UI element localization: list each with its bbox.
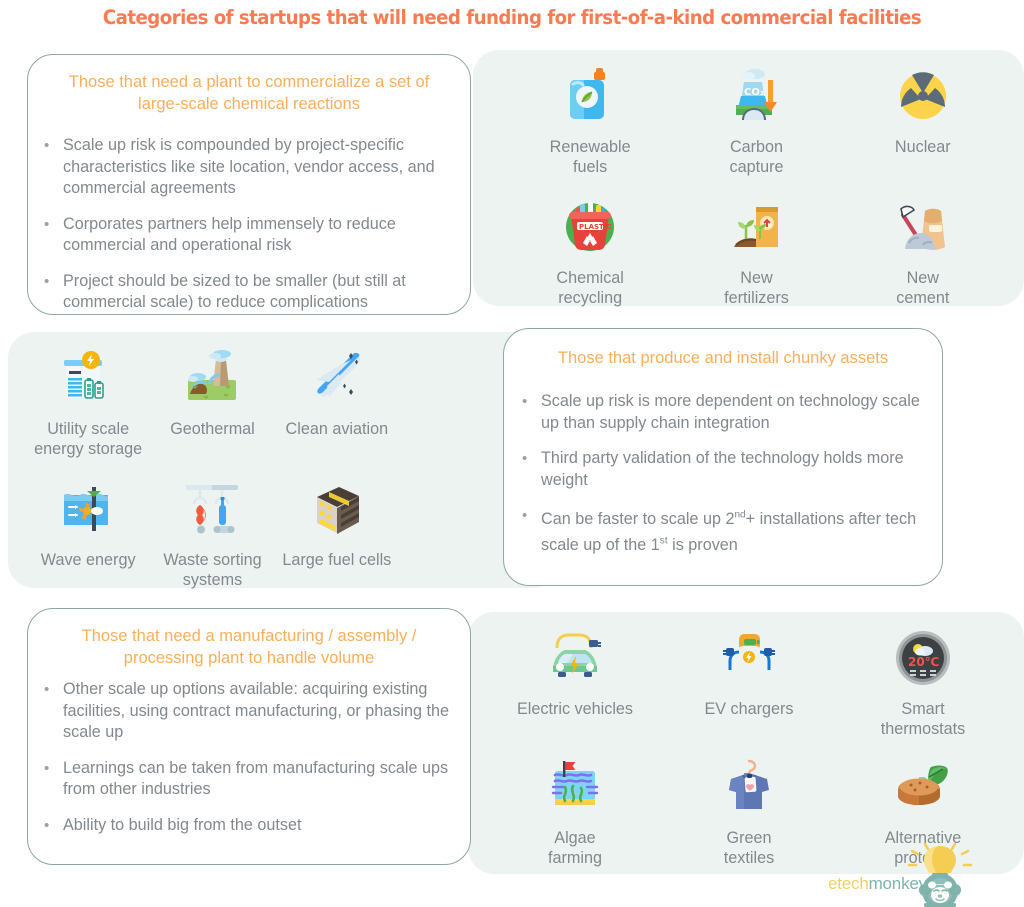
tshirt-hanger-icon (717, 755, 781, 819)
chemical-text-panel: Those that need a plant to commercialize… (27, 54, 471, 315)
icon-label: Green textiles (724, 828, 774, 868)
chemical-bullet-list: •Scale up risk is compounded by project-… (38, 135, 460, 314)
logo-wordmark: etechmonkey (828, 874, 927, 894)
list-item: •Other scale up options available: acqui… (38, 679, 456, 744)
icon-label: Renewable fuels (550, 137, 631, 177)
electric-car-icon (543, 626, 607, 690)
bullet-text: Corporates partners help immensely to re… (63, 215, 396, 255)
bullet-text: Project should be sized to be smaller (b… (63, 272, 406, 312)
bullet-dot: • (522, 505, 527, 527)
list-item: •Project should be sized to be smaller (… (38, 271, 456, 314)
thermostat-temp: 20℃ (908, 655, 939, 669)
radiation-icon (891, 64, 955, 128)
list-item: •Corporates partners help immensely to r… (38, 214, 456, 257)
icon-label: Carbon capture (729, 137, 783, 177)
bullet-text: Ability to build big from the outset (63, 816, 301, 834)
wave-turbine-icon (56, 477, 120, 541)
icon-label: Clean aviation (286, 419, 389, 439)
ev-charger-icon (717, 626, 781, 690)
bullet-dot: • (522, 448, 527, 470)
bullet-text: Learnings can be taken from manufacturin… (63, 759, 448, 799)
icon-cell-green-textiles[interactable]: Green textiles (662, 755, 836, 868)
icon-label: EV chargers (704, 699, 793, 719)
icon-label: New cement (896, 268, 949, 308)
bullet-dot: • (44, 679, 49, 701)
bullet-dot: • (44, 758, 49, 780)
jerrycan-leaf-icon (558, 64, 622, 128)
icon-cell-new-fertilizers[interactable]: New fertilizers (673, 195, 839, 308)
icon-label: Waste sorting systems (163, 550, 261, 590)
bullet-text: Scale up risk is compounded by project-s… (63, 136, 435, 197)
bullet-dot: • (522, 391, 527, 413)
list-item: •Third party validation of the technolog… (516, 448, 924, 491)
icon-cell-chemical-recycling[interactable]: PLASTIC Chemical recycling (507, 195, 673, 308)
page-title: Categories of startups that will need fu… (36, 6, 988, 29)
manufacturing-bullet-list: •Other scale up options available: acqui… (38, 679, 460, 836)
list-item: •Scale up risk is compounded by project-… (38, 135, 456, 200)
plastic-text: PLASTIC (579, 223, 612, 231)
chunky-panel-heading: Those that produce and install chunky as… (516, 347, 930, 369)
waste-sorting-conveyor-icon (180, 477, 244, 541)
icon-cell-ev-chargers[interactable]: EV chargers (662, 626, 836, 739)
bullet-text: Scale up risk is more dependent on techn… (541, 392, 920, 432)
icon-cell-new-cement[interactable]: New cement (840, 195, 1006, 308)
chunky-icon-grid: Utility scale energy storage Geo (8, 346, 559, 590)
icon-cell-waste-sorting[interactable]: Waste sorting systems (150, 477, 274, 590)
icon-label: New fertilizers (724, 268, 789, 308)
icon-cell-nuclear[interactable]: Nuclear (840, 64, 1006, 177)
icon-cell-algae-farming[interactable]: Algae farming (488, 755, 662, 868)
plastic-recycling-bin-icon: PLASTIC (558, 195, 622, 259)
icon-label: Utility scale energy storage (34, 419, 142, 459)
icon-label: Electric vehicles (517, 699, 633, 719)
icon-cell-renewable-fuels[interactable]: Renewable fuels (507, 64, 673, 177)
bullet-text: Other scale up options available: acquir… (63, 680, 449, 741)
chemical-icons-panel: Renewable fuels CO₂ Carbon capture (473, 50, 1024, 306)
bullet-text: Can be faster to scale up 2nd+ installat… (541, 510, 916, 554)
bullet-dot: • (44, 271, 49, 293)
bullet-text: Third party validation of the technology… (541, 449, 904, 489)
icon-label: Smart thermostats (881, 699, 966, 739)
logo-text-etech: etech (828, 874, 869, 893)
chunky-bullet-list: •Scale up risk is more dependent on tech… (516, 391, 930, 557)
icon-label: Wave energy (41, 550, 136, 570)
icon-label: Nuclear (895, 137, 951, 157)
icon-cell-wave-energy[interactable]: Wave energy (26, 477, 150, 590)
chemical-icon-grid: Renewable fuels CO₂ Carbon capture (473, 64, 1024, 308)
icon-label: Algae farming (548, 828, 602, 868)
algae-pond-icon (543, 755, 607, 819)
chunky-text-panel: Those that produce and install chunky as… (503, 328, 943, 586)
geothermal-plant-icon (180, 346, 244, 410)
chunky-icons-panel: Utility scale energy storage Geo (8, 332, 559, 588)
icon-label: Geothermal (170, 419, 255, 439)
brand-logo[interactable]: etechmonkey (828, 843, 1024, 907)
icon-cell-electric-vehicles[interactable]: Electric vehicles (488, 626, 662, 739)
manufacturing-panel-heading: Those that need a manufacturing / assemb… (38, 625, 460, 669)
list-item: •Learnings can be taken from manufacturi… (38, 758, 456, 801)
logo-text-monkey: monkey (869, 874, 927, 893)
list-item: •Can be faster to scale up 2nd+ installa… (516, 505, 924, 557)
smart-thermostat-icon: 20℃ (891, 626, 955, 690)
icon-cell-large-fuel-cells[interactable]: Large fuel cells (275, 477, 399, 590)
icon-cell-utility-scale-energy-storage[interactable]: Utility scale energy storage (26, 346, 150, 459)
airplane-icon (305, 346, 369, 410)
chemical-panel-heading: Those that need a plant to commercialize… (38, 71, 460, 115)
list-item: •Ability to build big from the outset (38, 815, 456, 837)
icon-label: Chemical recycling (556, 268, 623, 308)
fertilizer-bag-sprout-icon (724, 195, 788, 259)
manufacturing-icons-panel: Electric vehicles EV chargers (468, 612, 1024, 874)
icon-cell-smart-thermostats[interactable]: 20℃ Smart thermostats (836, 626, 1010, 739)
bullet-dot: • (44, 214, 49, 236)
bullet-dot: • (44, 815, 49, 837)
manufacturing-text-panel: Those that need a manufacturing / assemb… (27, 608, 471, 865)
battery-storage-building-icon (56, 346, 120, 410)
plant-patty-icon (891, 755, 955, 819)
manufacturing-icon-grid: Electric vehicles EV chargers (468, 626, 1024, 868)
icon-cell-carbon-capture[interactable]: CO₂ Carbon capture (673, 64, 839, 177)
bullet-dot: • (44, 135, 49, 157)
icon-cell-geothermal[interactable]: Geothermal (150, 346, 274, 459)
co2-smokestack-icon: CO₂ (724, 64, 788, 128)
list-item: •Scale up risk is more dependent on tech… (516, 391, 924, 434)
co2-text: CO₂ (744, 87, 764, 98)
icon-label: Large fuel cells (282, 550, 391, 570)
cement-bag-shovel-icon (891, 195, 955, 259)
icon-cell-clean-aviation[interactable]: Clean aviation (275, 346, 399, 459)
fuel-cell-stack-icon (305, 477, 369, 541)
